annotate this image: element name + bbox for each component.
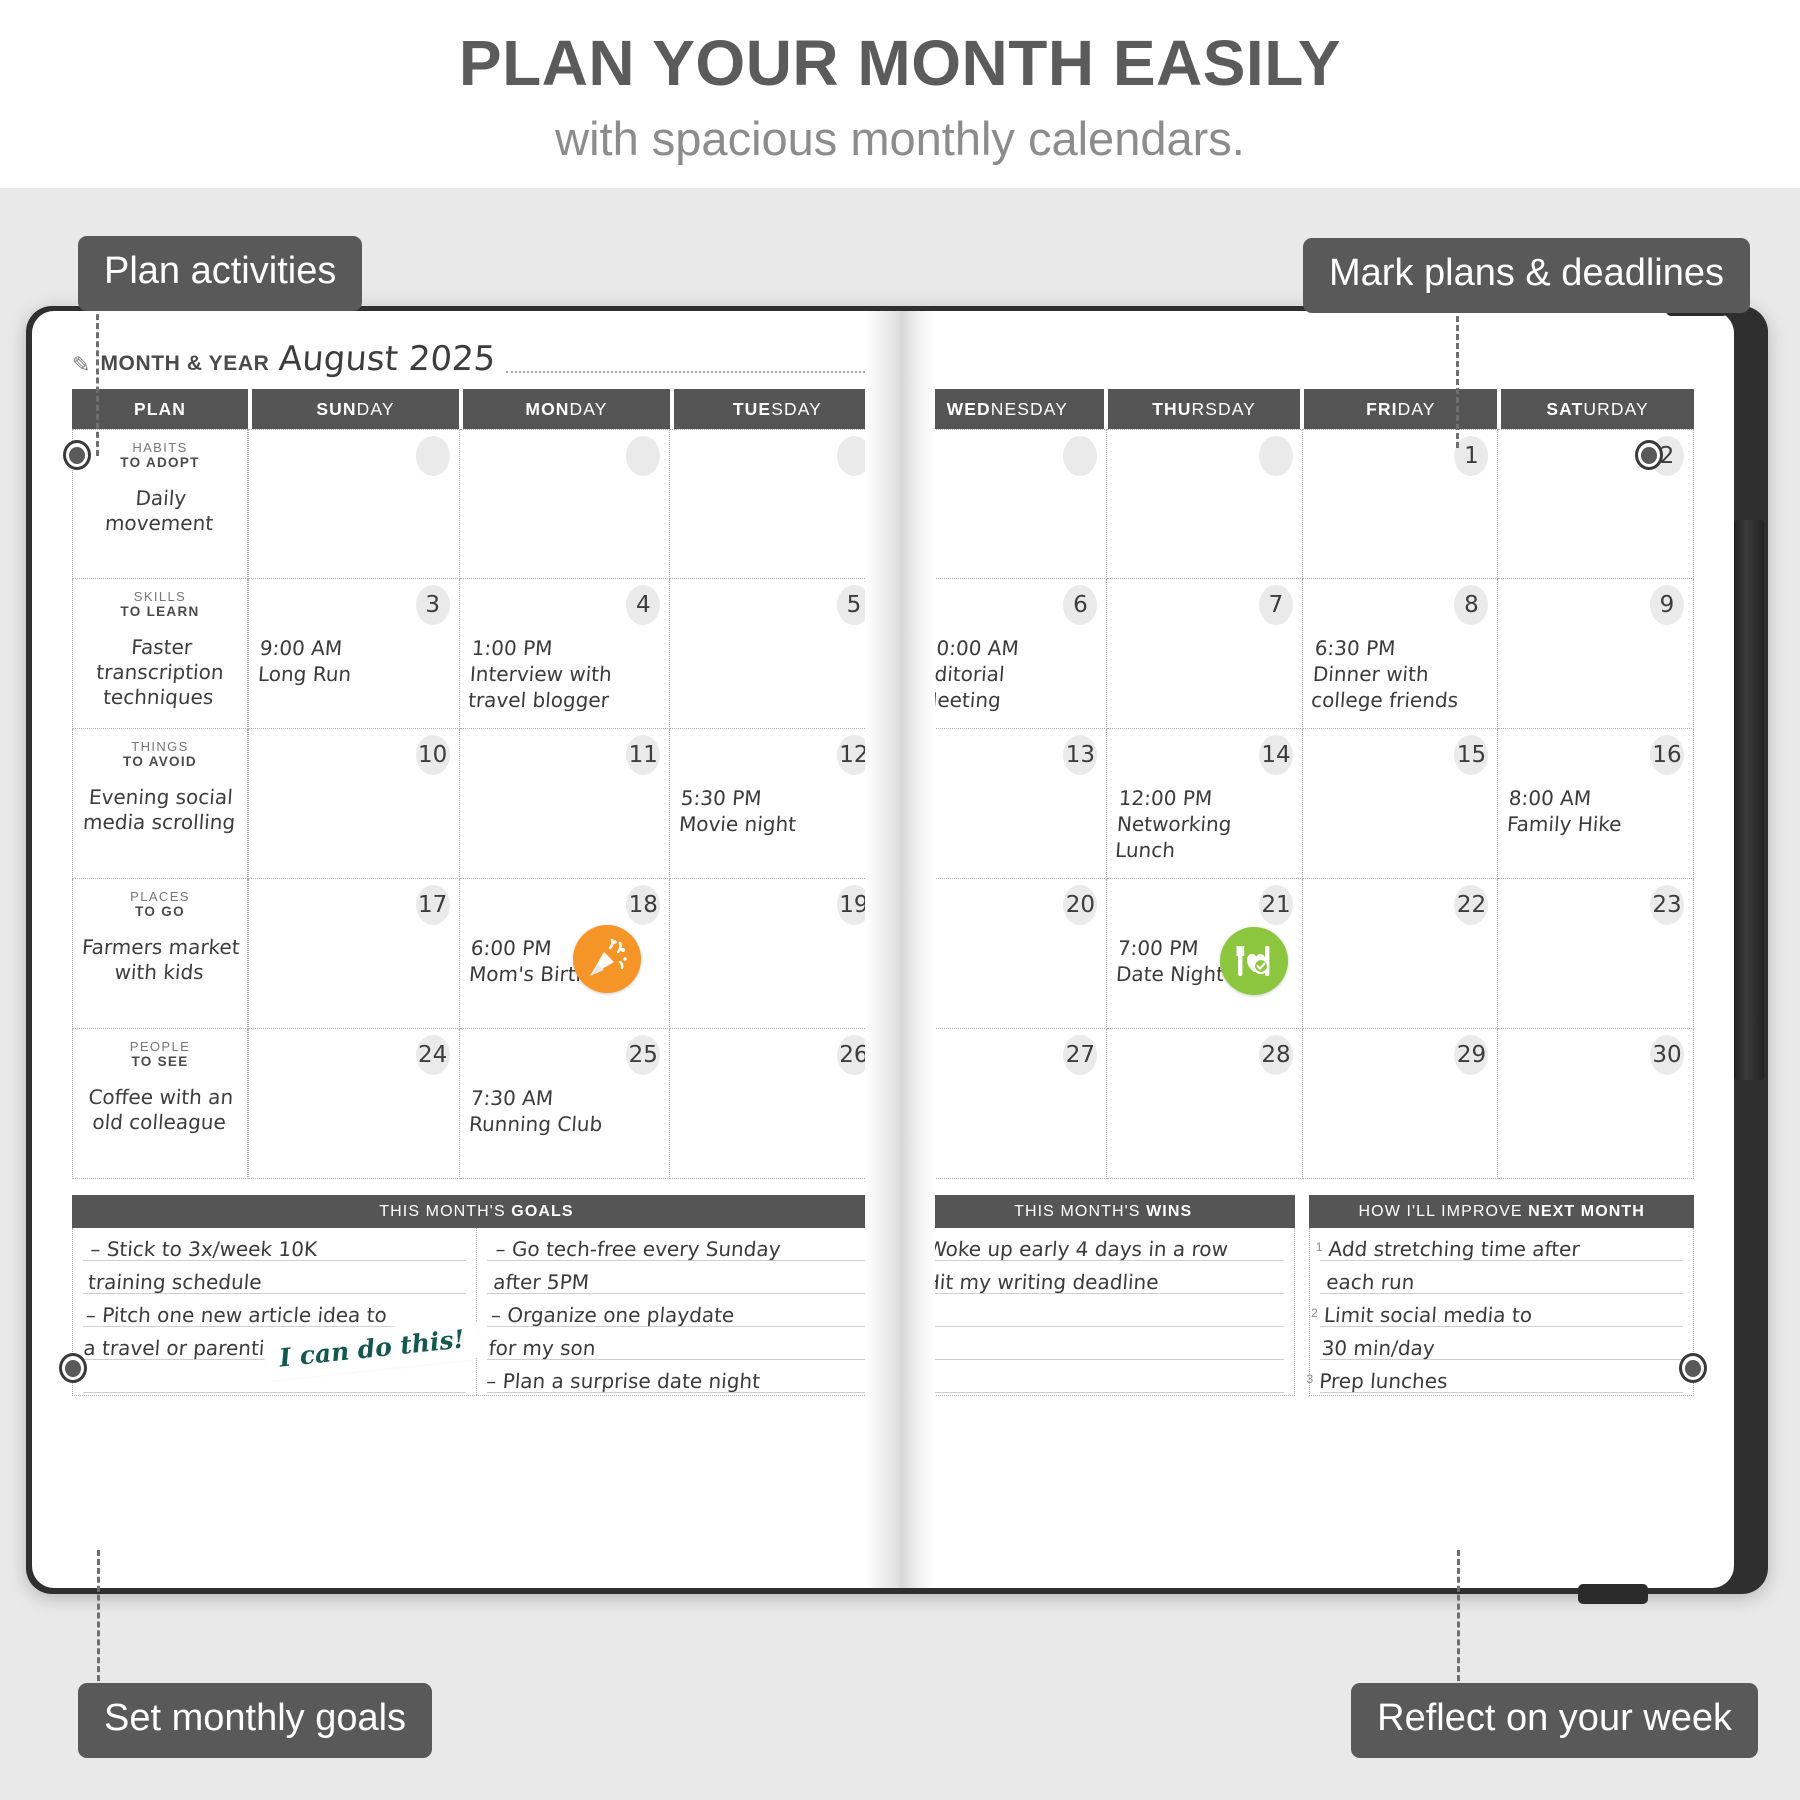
wins-section: THIS MONTH'S WINS 1Woke up early 4 days … bbox=[911, 1195, 1296, 1396]
plan-note-3[interactable]: Farmers market with kids bbox=[79, 935, 240, 985]
page-subtitle: with spacious monthly calendars. bbox=[555, 111, 1245, 166]
right-calendar-grid: 12610:00 AM Editorial Meeting786:30 PM D… bbox=[911, 429, 1694, 1179]
notebook: ✎ MONTH & YEAR August 2025 PLAN SUNDAY M… bbox=[26, 306, 1768, 1594]
left-day-columns: 39:00 AM Long Run41:00 PM Interview with… bbox=[248, 429, 881, 1179]
wins-items[interactable]: 1Woke up early 4 days in a row2Hit my wr… bbox=[924, 1232, 1283, 1299]
wins-col[interactable]: 1Woke up early 4 days in a row2Hit my wr… bbox=[912, 1228, 1295, 1395]
callout-set-goals: Set monthly goals bbox=[78, 1683, 432, 1758]
day-cell[interactable]: 23 bbox=[1498, 879, 1694, 1029]
day-cell[interactable]: 28 bbox=[1107, 1029, 1303, 1179]
numbered-list-item[interactable]: 3Prep lunches bbox=[1319, 1365, 1676, 1398]
month-year-label: MONTH & YEAR bbox=[100, 352, 269, 379]
callout-leader-line-4 bbox=[1457, 1550, 1460, 1690]
list-item-number: 3 bbox=[1307, 1363, 1314, 1396]
day-number bbox=[1063, 436, 1097, 476]
day-number: 11 bbox=[626, 735, 660, 775]
week-row: 20217:00 PM Date Night2223 bbox=[911, 879, 1694, 1029]
day-cell[interactable]: 168:00 AM Family Hike bbox=[1498, 729, 1694, 879]
week-row: 1011125:30 PM Movie night bbox=[248, 729, 881, 879]
day-cell[interactable]: 5 bbox=[670, 579, 881, 729]
day-number: 23 bbox=[1650, 885, 1684, 925]
list-item-text[interactable]: Add stretching time after each run bbox=[1326, 1237, 1581, 1294]
plan-kicker-bold-2: TO AVOID bbox=[81, 754, 239, 769]
left-header-row: PLAN SUNDAY MONDAY TUESDAY bbox=[72, 389, 881, 429]
day-number: 13 bbox=[1063, 735, 1097, 775]
day-number: 12 bbox=[837, 735, 871, 775]
day-cell[interactable]: 86:30 PM Dinner with college friends bbox=[1303, 579, 1499, 729]
callout-plan-activities: Plan activities bbox=[78, 236, 362, 311]
list-item-text[interactable]: Woke up early 4 days in a row bbox=[926, 1237, 1229, 1261]
plan-kicker-bold-3: TO GO bbox=[81, 904, 239, 919]
callout-leader-line-3 bbox=[97, 1550, 100, 1690]
plan-column: HABITSTO ADOPT Daily movement SKILLSTO L… bbox=[72, 429, 248, 1179]
callout-leader-line-1 bbox=[96, 296, 99, 456]
goals-header: THIS MONTH'S GOALS bbox=[72, 1195, 881, 1228]
day-event-text[interactable]: 6:30 PM Dinner with college friends bbox=[1310, 635, 1490, 713]
plan-kicker-bold-1: TO LEARN bbox=[81, 604, 239, 619]
list-item-number: 3 bbox=[910, 1297, 917, 1330]
day-number: 29 bbox=[1454, 1035, 1488, 1075]
day-number: 26 bbox=[837, 1035, 871, 1075]
plan-note-0[interactable]: Daily movement bbox=[79, 486, 240, 536]
day-cell[interactable]: 19 bbox=[670, 879, 881, 1029]
day-event-text[interactable]: 5:30 PM Movie night bbox=[678, 785, 871, 837]
plan-cell-people[interactable]: PEOPLETO SEE Coffee with an old colleagu… bbox=[72, 1029, 248, 1179]
day-number: 18 bbox=[626, 885, 660, 925]
plan-kicker-4: PEOPLE bbox=[130, 1039, 190, 1054]
list-item-number: 2 bbox=[1312, 1297, 1319, 1330]
day-event-text[interactable]: 7:30 AM Running Club bbox=[468, 1085, 661, 1137]
header-friday: FRIDAY bbox=[1304, 389, 1497, 429]
promo-header: PLAN YOUR MONTH EASILY with spacious mon… bbox=[0, 0, 1800, 188]
list-item-text[interactable]: Limit social media to 30 min/day bbox=[1321, 1303, 1533, 1360]
header-thursday: THURSDAY bbox=[1108, 389, 1301, 429]
month-year-row: ✎ MONTH & YEAR August 2025 bbox=[72, 341, 881, 379]
day-cell[interactable] bbox=[670, 429, 881, 579]
day-event-text[interactable]: 10:00 AM Editorial Meeting bbox=[919, 635, 1099, 713]
notebook-clip-bottom bbox=[1578, 1584, 1648, 1604]
right-header-row: WEDNESDAY THURSDAY FRIDAY SATURDAY bbox=[911, 389, 1694, 429]
day-cell[interactable] bbox=[248, 429, 460, 579]
day-cell[interactable] bbox=[1107, 429, 1303, 579]
day-cell[interactable]: 2 bbox=[1498, 429, 1694, 579]
list-item-number: 1 bbox=[1316, 1231, 1323, 1264]
reflection-sections: THIS MONTH'S WINS 1Woke up early 4 days … bbox=[911, 1179, 1694, 1396]
day-event-text[interactable]: 12:00 PM Networking Lunch bbox=[1115, 785, 1295, 863]
week-row: 27282930 bbox=[911, 1029, 1694, 1179]
day-cell[interactable]: 7 bbox=[1107, 579, 1303, 729]
day-number: 30 bbox=[1650, 1035, 1684, 1075]
day-number: 19 bbox=[837, 885, 871, 925]
day-number: 1 bbox=[1454, 436, 1488, 476]
day-cell[interactable]: 20 bbox=[911, 879, 1108, 1029]
day-cell[interactable]: 26 bbox=[670, 1029, 881, 1179]
day-number: 27 bbox=[1063, 1035, 1097, 1075]
party-popper-sticker bbox=[573, 925, 641, 993]
callout-mark-plans: Mark plans & deadlines bbox=[1303, 238, 1750, 313]
left-page: ✎ MONTH & YEAR August 2025 PLAN SUNDAY M… bbox=[32, 311, 893, 1588]
header-sunday: SUNDAY bbox=[252, 389, 459, 429]
day-number: 15 bbox=[1454, 735, 1488, 775]
list-item-text[interactable]: Prep lunches bbox=[1319, 1369, 1449, 1393]
day-number bbox=[837, 436, 871, 476]
day-number: 6 bbox=[1063, 585, 1097, 625]
plan-kicker-1: SKILLS bbox=[134, 589, 187, 604]
plan-kicker-0: HABITS bbox=[132, 440, 187, 455]
right-day-columns: 12610:00 AM Editorial Meeting786:30 PM D… bbox=[911, 429, 1694, 1179]
day-cell[interactable]: 13 bbox=[911, 729, 1108, 879]
day-cell[interactable]: 217:00 PM Date Night bbox=[1107, 879, 1303, 1029]
week-row: 17186:00 PM Mom's Birthday19 bbox=[248, 879, 881, 1029]
plan-cell-skills[interactable]: SKILLSTO LEARN Faster transcription tech… bbox=[72, 579, 248, 729]
day-number: 28 bbox=[1259, 1035, 1293, 1075]
plan-note-4[interactable]: Coffee with an old colleague bbox=[79, 1085, 240, 1135]
day-cell[interactable]: 10 bbox=[248, 729, 460, 879]
product-stage: Plan activities Mark plans & deadlines S… bbox=[0, 188, 1800, 1800]
day-number: 7 bbox=[1259, 585, 1293, 625]
goals-section: THIS MONTH'S GOALS – Stick to 3x/week 10… bbox=[72, 1195, 881, 1396]
day-number bbox=[416, 436, 450, 476]
week-row: 39:00 AM Long Run41:00 PM Interview with… bbox=[248, 579, 881, 729]
day-cell[interactable]: 41:00 PM Interview with travel blogger bbox=[460, 579, 671, 729]
day-cell[interactable]: 15 bbox=[1303, 729, 1499, 879]
week-row bbox=[248, 429, 881, 579]
notebook-pages: ✎ MONTH & YEAR August 2025 PLAN SUNDAY M… bbox=[32, 311, 1734, 1588]
header-saturday: SATURDAY bbox=[1501, 389, 1694, 429]
list-item-number: 2 bbox=[912, 1264, 919, 1297]
week-row: 24257:30 AM Running Club26 bbox=[248, 1029, 881, 1179]
day-cell[interactable]: 24 bbox=[248, 1029, 460, 1179]
day-cell[interactable]: 186:00 PM Mom's Birthday bbox=[460, 879, 671, 1029]
wins-body: 1Woke up early 4 days in a row2Hit my wr… bbox=[911, 1228, 1296, 1396]
day-cell[interactable]: 1412:00 PM Networking Lunch bbox=[1107, 729, 1303, 879]
list-item-number: 1 bbox=[914, 1231, 921, 1264]
day-cell[interactable] bbox=[460, 429, 671, 579]
improve-items[interactable]: 1Add stretching time after each run2Limi… bbox=[1319, 1232, 1685, 1398]
day-number: 5 bbox=[837, 585, 871, 625]
day-number: 9 bbox=[1650, 585, 1684, 625]
goals-col-right[interactable]: – Go tech-free every Sunday after 5PM – … bbox=[476, 1228, 880, 1395]
day-cell[interactable]: 22 bbox=[1303, 879, 1499, 1029]
day-number bbox=[1259, 436, 1293, 476]
plan-cell-things[interactable]: THINGSTO AVOID Evening social media scro… bbox=[72, 729, 248, 879]
quill-icon: ✎ bbox=[72, 354, 90, 379]
month-year-rule bbox=[506, 371, 881, 373]
numbered-list-item[interactable]: 1Woke up early 4 days in a row bbox=[926, 1233, 1283, 1266]
numbered-list-item[interactable]: 2Hit my writing deadline bbox=[924, 1266, 1281, 1299]
day-number: 17 bbox=[416, 885, 450, 925]
day-cell[interactable]: 1 bbox=[1303, 429, 1499, 579]
day-event-text[interactable]: 1:00 PM Interview with travel blogger bbox=[467, 635, 662, 713]
right-page: WEDNESDAY THURSDAY FRIDAY SATURDAY 12610… bbox=[893, 311, 1734, 1588]
day-cell[interactable]: 39:00 AM Long Run bbox=[248, 579, 460, 729]
day-cell[interactable]: 17 bbox=[248, 879, 460, 1029]
day-number: 14 bbox=[1259, 735, 1293, 775]
improve-col[interactable]: 1Add stretching time after each run2Limi… bbox=[1310, 1228, 1693, 1395]
plan-kicker-bold-4: TO SEE bbox=[81, 1054, 239, 1069]
header-wednesday: WEDNESDAY bbox=[911, 389, 1104, 429]
goals-right-items[interactable]: – Go tech-free every Sunday after 5PM – … bbox=[485, 1232, 872, 1398]
day-number: 22 bbox=[1454, 885, 1488, 925]
numbered-list-item[interactable]: 1Add stretching time after each run bbox=[1326, 1233, 1685, 1299]
numbered-list-item[interactable]: 2Limit social media to 30 min/day bbox=[1321, 1299, 1680, 1365]
day-cell[interactable]: 11 bbox=[460, 729, 671, 879]
dining-heart-sticker bbox=[1220, 927, 1288, 995]
day-number: 3 bbox=[416, 585, 450, 625]
anchor-dot-top-right bbox=[1635, 440, 1663, 470]
day-number: 25 bbox=[626, 1035, 660, 1075]
day-cell[interactable]: 9 bbox=[1498, 579, 1694, 729]
improve-body: 1Add stretching time after each run2Limi… bbox=[1309, 1228, 1694, 1396]
plan-kicker-2: THINGS bbox=[131, 739, 189, 754]
list-item-text[interactable]: Hit my writing deadline bbox=[924, 1270, 1159, 1294]
anchor-dot-bottom-right bbox=[1679, 1353, 1707, 1383]
plan-kicker-bold-0: TO ADOPT bbox=[81, 455, 239, 470]
day-number bbox=[626, 436, 660, 476]
day-cell[interactable]: 29 bbox=[1303, 1029, 1499, 1179]
day-number: 8 bbox=[1454, 585, 1488, 625]
day-event-text[interactable]: 9:00 AM Long Run bbox=[257, 635, 450, 687]
wins-header: THIS MONTH'S WINS bbox=[911, 1195, 1296, 1228]
header-monday: MONDAY bbox=[463, 389, 670, 429]
anchor-dot-top-left bbox=[63, 440, 91, 470]
day-number: 16 bbox=[1650, 735, 1684, 775]
goals-body: – Stick to 3x/week 10K training schedule… bbox=[72, 1228, 881, 1396]
day-cell[interactable]: 610:00 AM Editorial Meeting bbox=[911, 579, 1108, 729]
day-number: 10 bbox=[416, 735, 450, 775]
day-cell[interactable]: 257:30 AM Running Club bbox=[460, 1029, 671, 1179]
callout-leader-line-2 bbox=[1456, 298, 1459, 448]
day-cell[interactable]: 27 bbox=[911, 1029, 1108, 1179]
improve-header: HOW I'LL IMPROVE NEXT MONTH bbox=[1309, 1195, 1694, 1228]
week-row: 610:00 AM Editorial Meeting786:30 PM Din… bbox=[911, 579, 1694, 729]
day-cell[interactable]: 125:30 PM Movie night bbox=[670, 729, 881, 879]
page-title: PLAN YOUR MONTH EASILY bbox=[459, 31, 1341, 95]
left-calendar-grid: HABITSTO ADOPT Daily movement SKILLSTO L… bbox=[72, 429, 881, 1179]
day-number: 24 bbox=[416, 1035, 450, 1075]
week-row: 131412:00 PM Networking Lunch15168:00 AM… bbox=[911, 729, 1694, 879]
day-number: 21 bbox=[1259, 885, 1293, 925]
anchor-dot-bottom-left bbox=[59, 1353, 87, 1383]
plan-cell-places[interactable]: PLACESTO GO Farmers market with kids bbox=[72, 879, 248, 1029]
improve-section: HOW I'LL IMPROVE NEXT MONTH 1Add stretch… bbox=[1309, 1195, 1694, 1396]
elastic-strap bbox=[1734, 520, 1764, 1080]
week-row: 12 bbox=[911, 429, 1694, 579]
plan-kicker-3: PLACES bbox=[130, 889, 190, 904]
plan-note-2[interactable]: Evening social media scrolling bbox=[79, 785, 240, 835]
day-number: 4 bbox=[626, 585, 660, 625]
plan-note-1[interactable]: Faster transcription techniques bbox=[78, 635, 241, 710]
day-cell[interactable] bbox=[911, 429, 1108, 579]
day-event-text[interactable]: 8:00 AM Family Hike bbox=[1507, 785, 1685, 837]
header-tuesday: TUESDAY bbox=[674, 389, 881, 429]
day-number: 20 bbox=[1063, 885, 1097, 925]
month-year-value[interactable]: August 2025 bbox=[278, 339, 497, 379]
callout-reflect: Reflect on your week bbox=[1351, 1683, 1758, 1758]
day-cell[interactable]: 30 bbox=[1498, 1029, 1694, 1179]
